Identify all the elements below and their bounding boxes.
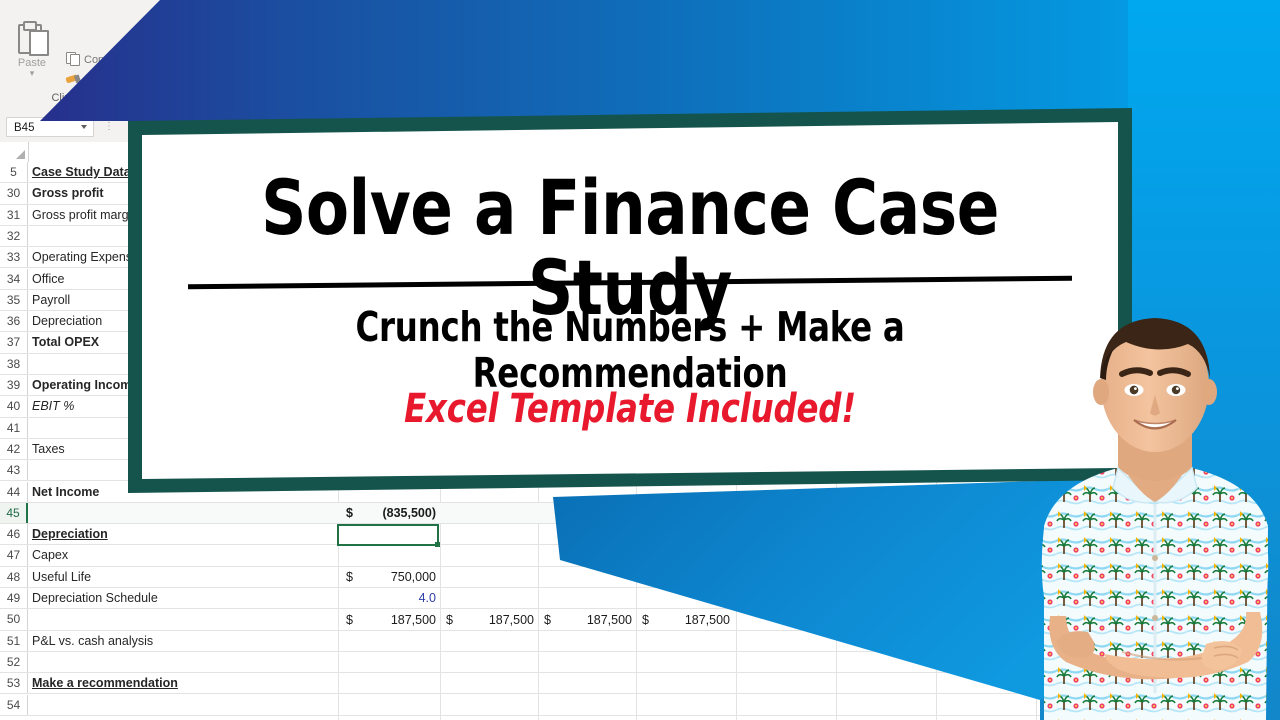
cell-label: Operating Income <box>32 375 138 396</box>
row-header[interactable]: 42 <box>0 439 28 459</box>
ear-left <box>1093 379 1109 405</box>
format-painter-label: Format Painter <box>84 74 157 86</box>
cell-label: Depreciation <box>32 524 108 545</box>
row-header[interactable]: 46 <box>0 524 28 544</box>
callout-text: Excel Template Included! <box>191 386 1069 432</box>
row-header[interactable]: 45 <box>0 503 28 523</box>
select-all-corner[interactable] <box>0 142 29 163</box>
copy-icon <box>66 52 81 65</box>
dep-sched-amount-4: 187,500 <box>654 610 730 631</box>
title-card: Solve a Finance Case Study Crunch the Nu… <box>128 108 1132 493</box>
dep-sched-currency-4: $ <box>642 610 649 631</box>
capex-currency: $ <box>346 567 353 588</box>
cell-label: Make a recommendation <box>32 673 178 694</box>
cell-label: Capex <box>32 545 68 566</box>
thumbnail-stage: Paste ▾ Copy Format Painter Clipboard B4… <box>0 0 1280 720</box>
capex-amount: 750,000 <box>360 567 436 588</box>
name-box[interactable]: B45 <box>6 117 94 137</box>
row-header[interactable]: 37 <box>0 332 28 352</box>
cell-label: Depreciation <box>32 311 102 332</box>
dep-sched-currency-1: $ <box>346 610 353 631</box>
ear-right <box>1201 379 1217 405</box>
net-income-currency: $ <box>346 503 353 524</box>
cell-label: Office <box>32 269 64 290</box>
cell-label: Payroll <box>32 290 70 311</box>
copy-button[interactable]: Copy <box>66 52 110 66</box>
row-header[interactable]: 53 <box>0 673 28 693</box>
cell-label: Net Income <box>32 482 99 503</box>
cell-label: Useful Life <box>32 567 91 588</box>
cell-label: Gross profit <box>32 183 104 204</box>
more-options-icon[interactable]: ⋮ <box>104 121 114 132</box>
format-painter-button[interactable]: Format Painter <box>66 72 157 86</box>
cell-label: P&L vs. cash analysis <box>32 631 153 652</box>
row-header[interactable]: 44 <box>0 482 28 502</box>
net-income-amount: (835,500) <box>360 503 436 524</box>
row-header[interactable]: 52 <box>0 652 28 672</box>
cell-label: Taxes <box>32 439 65 460</box>
paintbrush-icon <box>66 72 81 85</box>
useful-life-amount: 4.0 <box>360 588 436 609</box>
row-header[interactable]: 48 <box>0 567 28 587</box>
dep-sched-amount-2: 187,500 <box>458 610 534 631</box>
dep-sched-currency-3: $ <box>544 610 551 631</box>
title-card-inner: Solve a Finance Case Study Crunch the Nu… <box>142 122 1118 479</box>
clipboard-group-label: Clipboard <box>0 92 150 104</box>
cell-label: Gross profit margin <box>32 205 138 226</box>
paste-icon <box>15 22 49 56</box>
name-box-value: B45 <box>14 122 34 134</box>
subtitle: Crunch the Numbers + Make a Recommendati… <box>201 304 1060 396</box>
row-header[interactable]: 34 <box>0 269 28 289</box>
copy-button-label: Copy <box>84 54 110 66</box>
dep-sched-currency-2: $ <box>446 610 453 631</box>
row-header[interactable]: 36 <box>0 311 28 331</box>
selected-cell-b45[interactable] <box>337 524 439 546</box>
cell-label: Total OPEX <box>32 332 99 353</box>
row-header[interactable]: 33 <box>0 247 28 267</box>
row-header[interactable]: 38 <box>0 354 28 374</box>
row-header[interactable]: 31 <box>0 205 28 225</box>
row-header[interactable]: 47 <box>0 545 28 565</box>
row-header[interactable]: 35 <box>0 290 28 310</box>
cell-label: EBIT % <box>32 396 74 417</box>
row-header[interactable]: 5 <box>0 162 28 182</box>
row-header[interactable]: 41 <box>0 418 28 438</box>
row-header[interactable]: 49 <box>0 588 28 608</box>
ribbon-clipboard-group: Paste ▾ Copy Format Painter Clipboard <box>0 0 260 113</box>
row-header[interactable]: 40 <box>0 396 28 416</box>
row-header[interactable]: 50 <box>0 609 28 629</box>
dep-sched-amount-3: 187,500 <box>556 610 632 631</box>
paste-button[interactable]: Paste ▾ <box>8 22 56 84</box>
row-header[interactable]: 51 <box>0 631 28 651</box>
dep-sched-amount-1: 187,500 <box>360 610 436 631</box>
row-header[interactable]: 39 <box>0 375 28 395</box>
sleeve-left <box>1042 520 1110 616</box>
row-header[interactable]: 30 <box>0 183 28 203</box>
row-header[interactable]: 54 <box>0 695 28 715</box>
row-header[interactable]: 43 <box>0 460 28 480</box>
chevron-down-icon: ▾ <box>8 69 56 78</box>
cell-label: Depreciation Schedule <box>32 588 158 609</box>
cell-label: Case Study Data <box>32 162 131 183</box>
chevron-down-icon[interactable] <box>81 125 87 129</box>
row-header[interactable]: 32 <box>0 226 28 246</box>
presenter-photo <box>1030 300 1280 720</box>
sleeve-right <box>1200 520 1268 616</box>
